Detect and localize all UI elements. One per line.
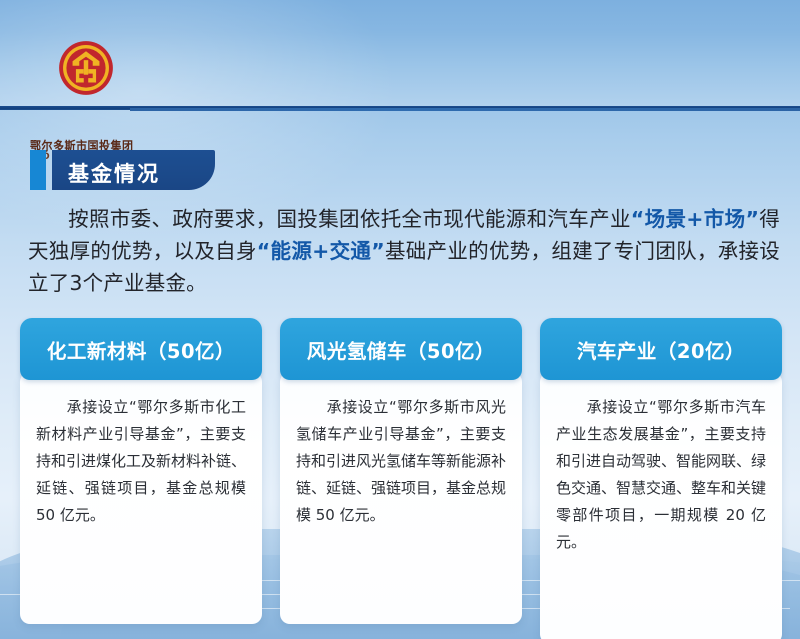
company-logo: 鄂尔多斯市国投集团 ORDOSGT GROUP xyxy=(30,40,140,130)
card-title: 化工新材料（50亿） xyxy=(47,335,235,364)
card-description: 承接设立“鄂尔多斯市汽车产业生态发展基金”，主要支持和引进自动驾驶、智能网联、绿… xyxy=(556,394,766,556)
intro-paragraph: 按照市委、政府要求，国投集团依托全市现代能源和汽车产业“场景+市场”得天独厚的优… xyxy=(28,203,780,299)
card-header: 风光氢储车（50亿） xyxy=(280,318,522,380)
card-header: 化工新材料（50亿） xyxy=(20,318,262,380)
section-title: 基金情况 xyxy=(68,158,160,188)
ordos-emblem-icon xyxy=(58,40,114,96)
paragraph-highlight-2: “能源+交通” xyxy=(257,239,385,263)
card-description-text: 承接设立“鄂尔多斯市化工新材料产业引导基金”，主要支持和引进煤化工及新材料补链、… xyxy=(36,398,246,524)
card-body: 承接设立“鄂尔多斯市汽车产业生态发展基金”，主要支持和引进自动驾驶、智能网联、绿… xyxy=(540,372,782,639)
card-header: 汽车产业（20亿） xyxy=(540,318,782,380)
card-title: 风光氢储车（50亿） xyxy=(307,335,495,364)
fund-card-chemical-materials[interactable]: 化工新材料（50亿） 承接设立“鄂尔多斯市化工新材料产业引导基金”，主要支持和引… xyxy=(20,318,262,624)
fund-card-automotive-industry[interactable]: 汽车产业（20亿） 承接设立“鄂尔多斯市汽车产业生态发展基金”，主要支持和引进自… xyxy=(540,318,782,639)
card-description: 承接设立“鄂尔多斯市风光氢储车产业引导基金”，主要支持和引进风光氢储车等新能源补… xyxy=(296,394,506,529)
card-description-text: 承接设立“鄂尔多斯市汽车产业生态发展基金”，主要支持和引进自动驾驶、智能网联、绿… xyxy=(556,398,766,551)
card-title: 汽车产业（20亿） xyxy=(577,335,745,364)
card-body: 承接设立“鄂尔多斯市风光氢储车产业引导基金”，主要支持和引进风光氢储车等新能源补… xyxy=(280,372,522,624)
slide-canvas: 鄂尔多斯市国投集团 ORDOSGT GROUP 基金情况 按照市委、政府要求，国… xyxy=(0,0,800,639)
card-body: 承接设立“鄂尔多斯市化工新材料产业引导基金”，主要支持和引进煤化工及新材料补链、… xyxy=(20,372,262,624)
card-description: 承接设立“鄂尔多斯市化工新材料产业引导基金”，主要支持和引进煤化工及新材料补链、… xyxy=(36,394,246,529)
logo-rule-line xyxy=(130,108,800,111)
paragraph-part-1: 按照市委、政府要求，国投集团依托全市现代能源和汽车产业 xyxy=(68,207,631,231)
fund-card-renewable-hydrogen-storage-vehicle[interactable]: 风光氢储车（50亿） 承接设立“鄂尔多斯市风光氢储车产业引导基金”，主要支持和引… xyxy=(280,318,522,624)
banner-accent-tab xyxy=(30,150,46,190)
paragraph-highlight-1: “场景+市场” xyxy=(631,207,759,231)
card-description-text: 承接设立“鄂尔多斯市风光氢储车产业引导基金”，主要支持和引进风光氢储车等新能源补… xyxy=(296,398,506,524)
